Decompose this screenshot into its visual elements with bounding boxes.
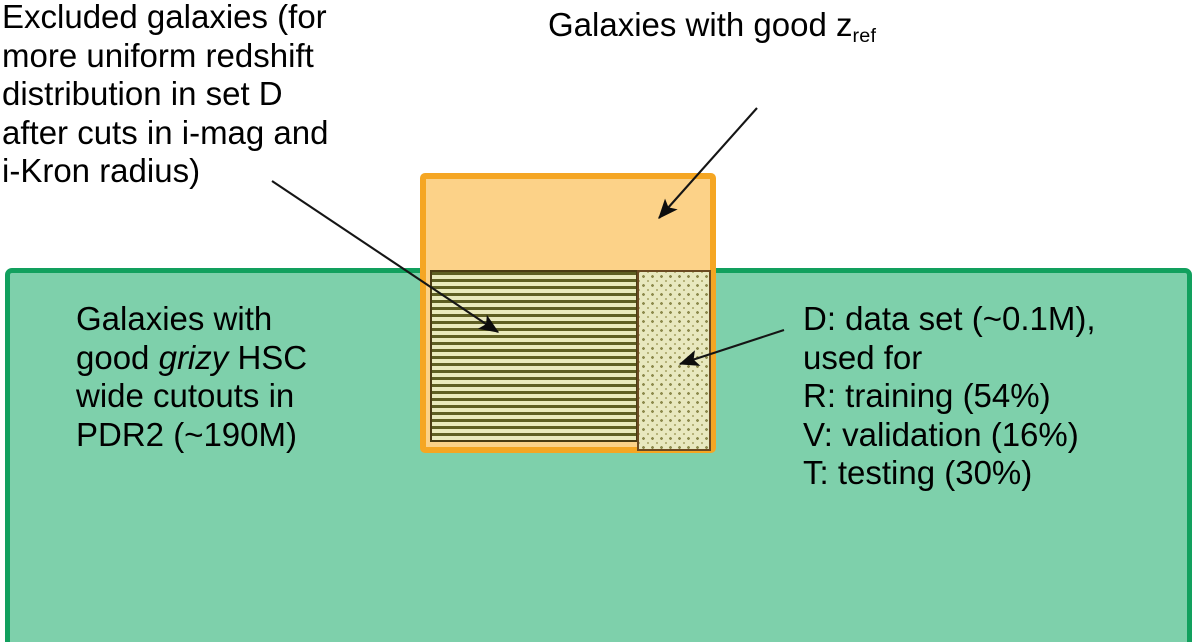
label-excluded-galaxies: Excluded galaxies (for more uniform reds…: [2, 0, 422, 191]
region-excluded-galaxies: [430, 270, 638, 442]
region-data-set-d: [637, 270, 711, 451]
label-grizy-wide-cutouts: Galaxies withgood grizy HSCwide cutouts …: [76, 300, 416, 454]
label-good-zref: Galaxies with good zref: [548, 6, 876, 48]
label-grizy-line2-pre: good: [76, 339, 159, 376]
label-grizy-line2-post: HSC: [228, 339, 307, 376]
label-grizy-line1: Galaxies with: [76, 300, 272, 337]
label-dataset-line2: used for: [803, 339, 922, 376]
label-grizy-italic: grizy: [159, 339, 229, 376]
label-good-zref-text: Galaxies with good z: [548, 6, 853, 43]
label-dataset-line1: D: data set (~0.1M),: [803, 300, 1096, 337]
diagram-canvas: Excluded galaxies (for more uniform reds…: [0, 0, 1200, 642]
label-dataset-line5: T: testing (30%): [803, 454, 1032, 491]
label-dataset-line4: V: validation (16%): [803, 416, 1079, 453]
label-grizy-line3: wide cutouts in: [76, 377, 294, 414]
label-dataset-line3: R: training (54%): [803, 377, 1051, 414]
label-grizy-line4: PDR2 (~190M): [76, 416, 297, 453]
label-data-set-d: D: data set (~0.1M),used forR: training …: [803, 300, 1193, 493]
label-good-zref-subscript: ref: [853, 25, 877, 47]
